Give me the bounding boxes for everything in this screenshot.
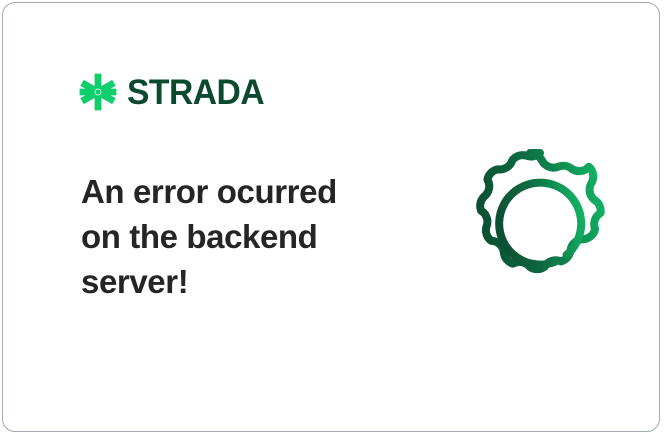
- gear-cog-icon: [446, 141, 614, 305]
- brand-lockup: STRADA: [79, 73, 270, 111]
- brand-wordmark: STRADA: [127, 75, 264, 110]
- strada-asterisk-icon: [79, 73, 117, 111]
- error-card: STRADA An error ocurred on the backend s…: [2, 2, 660, 432]
- error-message: An error ocurred on the backend server!: [81, 169, 356, 304]
